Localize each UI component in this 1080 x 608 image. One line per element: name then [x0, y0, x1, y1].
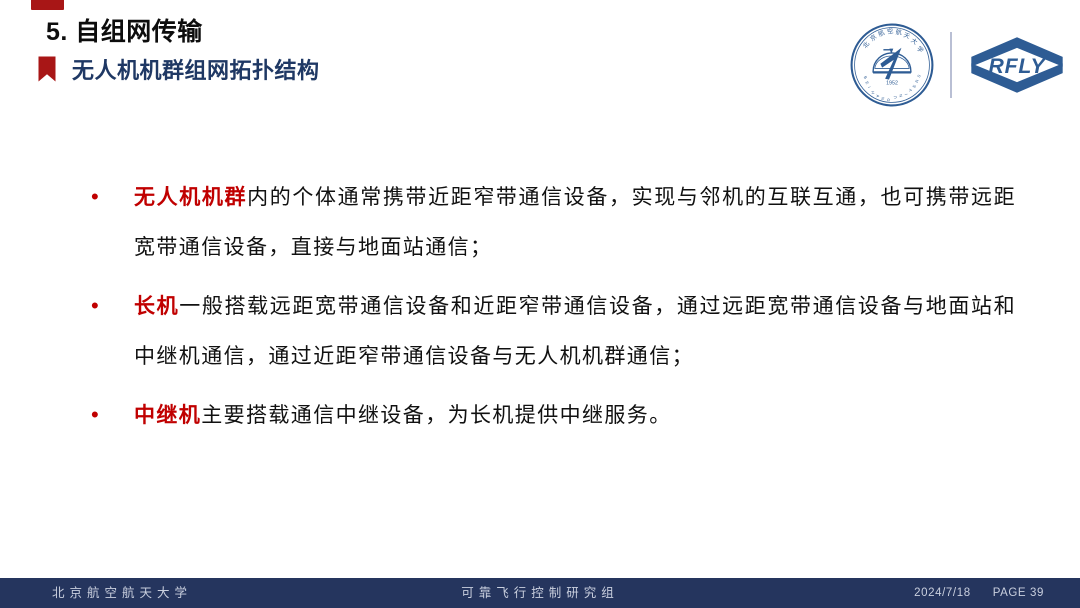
bullet-body: 内的个体通常携带近距窄带通信设备，实现与邻机的互联互通，也可携带远距宽带通信设备… — [134, 185, 1016, 259]
bullet-marker: • — [86, 172, 134, 222]
beihang-university-seal-icon: 北 京 航 空 航 天 大 学 1952 — [848, 22, 936, 108]
bullet-text: 中继机主要搭载通信中继设备，为长机提供中继服务。 — [134, 390, 1016, 440]
bullet-marker: • — [86, 390, 134, 440]
svg-text:航: 航 — [895, 28, 902, 37]
bullet-highlight: 无人机机群 — [134, 184, 247, 209]
bullet-body: 一般搭载远距宽带通信设备和近距窄带通信设备，通过远距宽带通信设备与地面站和中继机… — [134, 294, 1016, 368]
page-title: 5. 自组网传输 — [46, 18, 320, 47]
title-block: 5. 自组网传输 无人机机群组网拓扑结构 — [46, 18, 320, 85]
footer-page-number: PAGE 39 — [993, 578, 1044, 608]
footer-date: 2024/7/18 — [914, 578, 971, 608]
list-item: • 无人机机群内的个体通常携带近距窄带通信设备，实现与邻机的互联互通，也可携带远… — [86, 172, 1016, 272]
bullet-marker: • — [86, 281, 134, 331]
svg-text:RFLY: RFLY — [988, 55, 1046, 78]
list-item: • 中继机主要搭载通信中继设备，为长机提供中继服务。 — [86, 390, 1016, 440]
presentation-slide: 5. 自组网传输 无人机机群组网拓扑结构 北 京 航 空 航 — [0, 0, 1080, 608]
svg-text:1952: 1952 — [886, 80, 898, 86]
subtitle-row: 无人机机群组网拓扑结构 — [46, 53, 320, 85]
list-item: • 长机一般搭载远距宽带通信设备和近距窄带通信设备，通过远距宽带通信设备与地面站… — [86, 281, 1016, 381]
bullet-text: 长机一般搭载远距宽带通信设备和近距窄带通信设备，通过远距宽带通信设备与地面站和中… — [134, 281, 1016, 381]
slide-footer: 北京航空航天大学 可靠飞行控制研究组 2024/7/18 PAGE 39 — [0, 578, 1080, 608]
footer-meta: 2024/7/18 PAGE 39 — [914, 578, 1044, 608]
bullet-highlight: 中继机 — [134, 402, 201, 427]
bookmark-icon — [37, 55, 57, 83]
page-subtitle: 无人机机群组网拓扑结构 — [72, 53, 320, 85]
bullet-text: 无人机机群内的个体通常携带近距窄带通信设备，实现与邻机的互联互通，也可携带远距宽… — [134, 172, 1016, 272]
bullet-highlight: 长机 — [134, 293, 179, 318]
rfly-logo-icon: RFLY — [968, 34, 1066, 96]
slide-body: • 无人机机群内的个体通常携带近距窄带通信设备，实现与邻机的互联互通，也可携带远… — [86, 172, 1016, 449]
bullet-body: 主要搭载通信中继设备，为长机提供中继服务。 — [201, 403, 671, 427]
slide-header: 5. 自组网传输 无人机机群组网拓扑结构 北 京 航 空 航 — [0, 0, 1080, 118]
logo-divider — [950, 32, 952, 98]
logo-group: 北 京 航 空 航 天 大 学 1952 — [848, 22, 1066, 108]
